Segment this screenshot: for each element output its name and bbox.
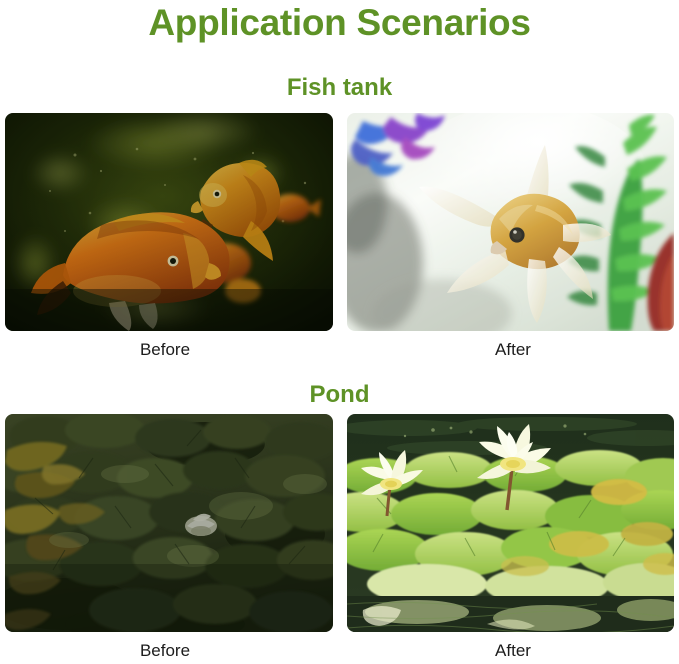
caption-pond-after: After (443, 640, 583, 662)
caption-fish-tank-after: After (443, 339, 583, 361)
page-title: Application Scenarios (0, 2, 679, 44)
section-heading-pond: Pond (0, 381, 679, 409)
application-scenarios-page: Application Scenarios Fish tank (0, 0, 679, 664)
pond-after-illustration (347, 414, 674, 632)
pond-before-illustration (5, 414, 333, 632)
photo-fish-tank-before (5, 113, 333, 331)
photo-fish-tank-after (347, 113, 674, 331)
caption-pond-before: Before (95, 640, 235, 662)
caption-fish-tank-before: Before (95, 339, 235, 361)
fish-tank-before-illustration (5, 113, 333, 331)
photo-pond-before (5, 414, 333, 632)
section-heading-fish-tank: Fish tank (0, 74, 679, 102)
fish-tank-after-illustration (347, 113, 674, 331)
photo-pond-after (347, 414, 674, 632)
